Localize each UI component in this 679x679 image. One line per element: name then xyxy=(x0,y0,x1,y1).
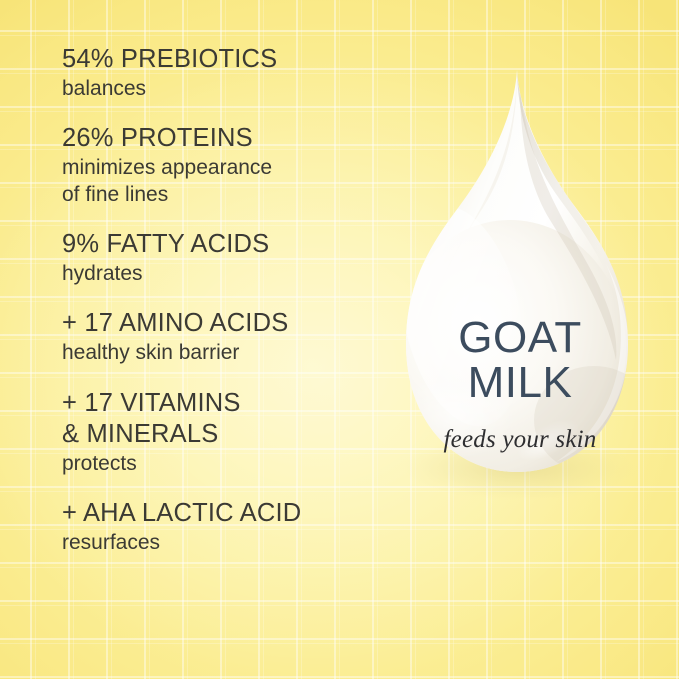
ingredient-title: + 17 AMINO ACIDS xyxy=(62,308,382,339)
ingredient-benefit: hydrates xyxy=(62,261,382,287)
goat-milk-ingredient-poster: 54% PREBIOTICS balances 26% PROTEINS min… xyxy=(0,0,679,679)
ingredient-item-vitamins-minerals: + 17 VITAMINS & MINERALS protects xyxy=(62,388,382,477)
milk-droplet-illustration xyxy=(370,48,670,548)
ingredient-title: + 17 VITAMINS & MINERALS xyxy=(62,388,382,450)
ingredient-benefit: resurfaces xyxy=(62,530,382,556)
ingredient-title: 26% PROTEINS xyxy=(62,123,382,154)
ingredient-item-amino-acids: + 17 AMINO ACIDS healthy skin barrier xyxy=(62,308,382,366)
ingredient-item-aha-lactic-acid: + AHA LACTIC ACID resurfaces xyxy=(62,498,382,556)
ingredient-item-prebiotics: 54% PREBIOTICS balances xyxy=(62,44,382,102)
ingredient-benefit: protects xyxy=(62,451,382,477)
ingredient-benefit: healthy skin barrier xyxy=(62,340,382,366)
ingredient-item-fatty-acids: 9% FATTY ACIDS hydrates xyxy=(62,229,382,287)
ingredient-benefit: balances xyxy=(62,76,382,102)
ingredient-title: 54% PREBIOTICS xyxy=(62,44,382,75)
ingredient-benefit: minimizes appearance of fine lines xyxy=(62,155,382,208)
ingredient-title: + AHA LACTIC ACID xyxy=(62,498,382,529)
ingredient-item-proteins: 26% PROTEINS minimizes appearance of fin… xyxy=(62,123,382,208)
ingredient-title: 9% FATTY ACIDS xyxy=(62,229,382,260)
ingredient-list: 54% PREBIOTICS balances 26% PROTEINS min… xyxy=(62,44,382,557)
